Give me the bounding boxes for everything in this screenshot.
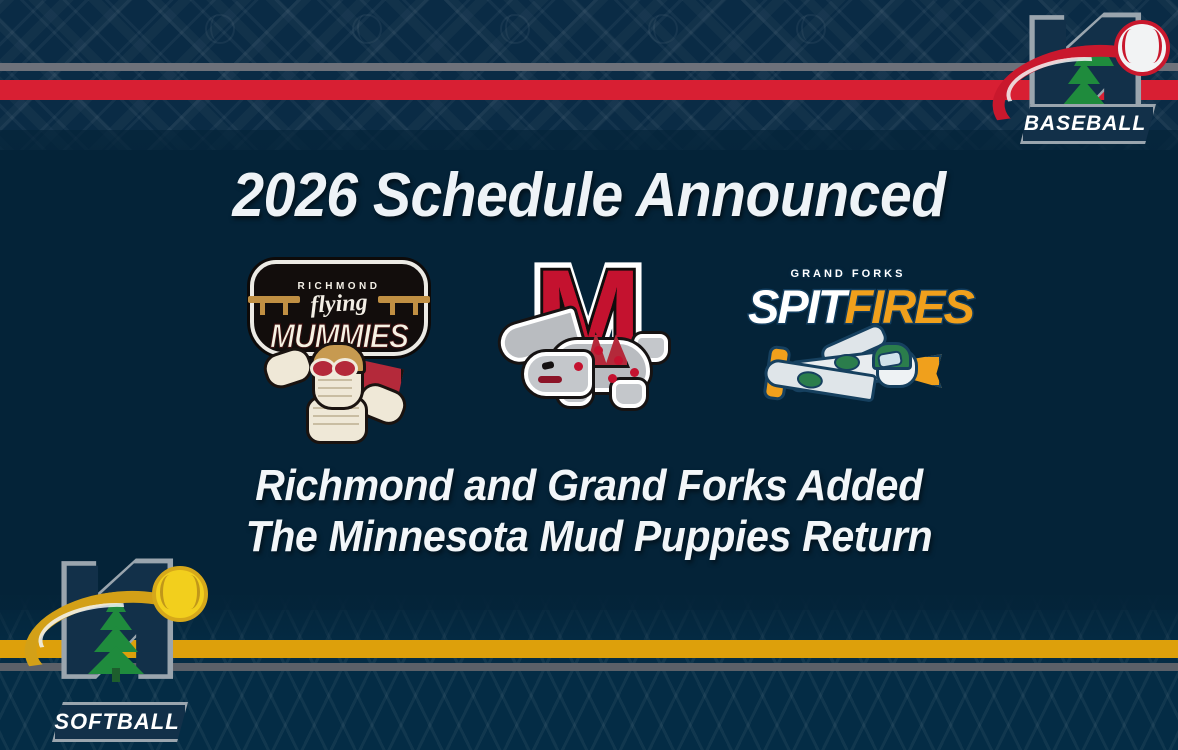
spitfires-mascot-icon [758,328,940,414]
baseball-glyph-icon [205,14,235,44]
northwoods-league-baseball-logo: BASEBALL [996,2,1178,150]
promo-graphic: 2026 Schedule Announced RICHMOND flying … [0,0,1178,750]
subtitle-line-1: Richmond and Grand Forks Added [41,461,1137,511]
team-logo-row: RICHMOND flying MUMMIES [0,250,1178,445]
baseball-glyph-icon [352,14,382,44]
nwl-baseball-banner-label: BASEBALL [1020,108,1150,142]
spitfires-roundel [834,354,860,371]
page-title: 2026 Schedule Announced [47,160,1131,231]
mudpuppies-mascot-icon [502,312,688,422]
northwoods-league-softball-logo: SOFTBALL [28,548,216,748]
baseball-glyph-icon [500,14,530,44]
baseball-glyph-icon [796,14,826,44]
mummies-mascot-icon [270,328,402,440]
nwl-softball-banner-label: SOFTBALL [52,706,182,740]
logo-grand-forks-spitfires: GRAND FORKS SPITFIRES [748,268,948,418]
mudpuppies-leg-mid [612,380,646,408]
logo-minnesota-mud-puppies: M M [492,268,692,426]
baseball-glyph-icon [648,14,678,44]
spitfires-nickname-part-1: SPIT [748,280,844,333]
mudpuppies-mouth [538,376,562,383]
mummies-goggle-right-icon [332,358,358,379]
spitfires-city-text: GRAND FORKS [748,268,948,280]
softball-icon [152,566,208,622]
spitfires-nickname: SPITFIRES [748,282,948,332]
baseball-icon [1114,20,1170,76]
logo-richmond-flying-mummies: RICHMOND flying MUMMIES [232,250,437,442]
mudpuppies-head [524,352,592,396]
spitfires-nickname-part-2: FIRES [844,280,972,333]
